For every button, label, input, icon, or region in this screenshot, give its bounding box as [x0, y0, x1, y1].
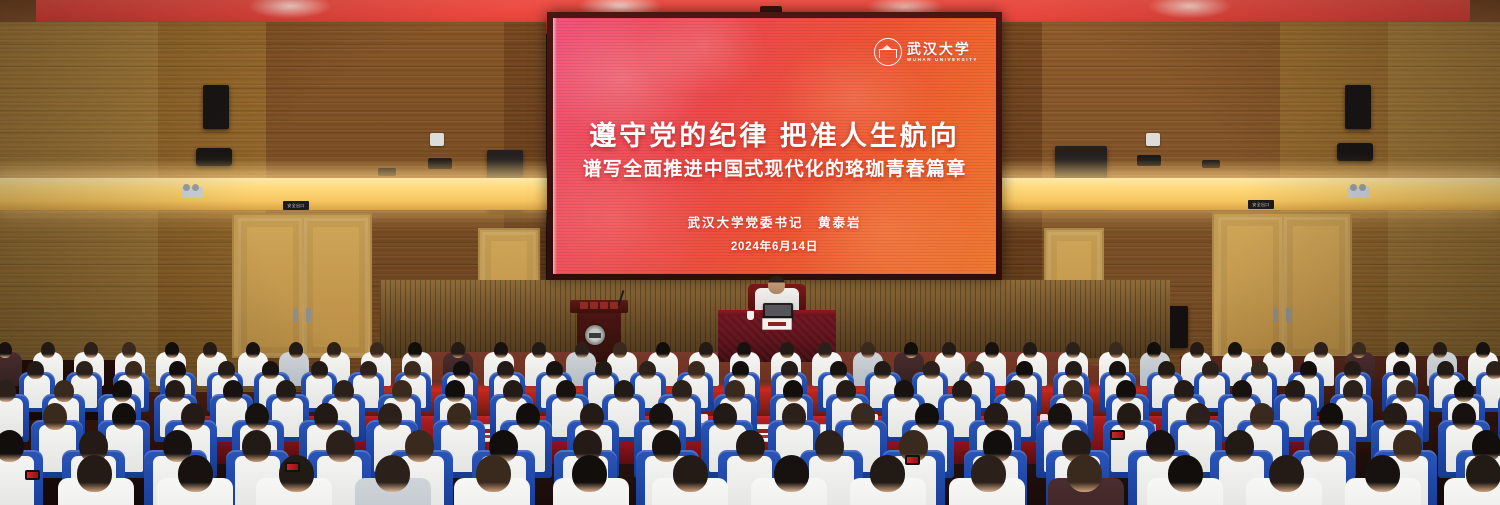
- audience-member-head: [774, 455, 809, 492]
- wuhan-university-seal-icon: [874, 38, 902, 66]
- audience-member-head: [43, 403, 67, 430]
- audience-member-head: [985, 342, 999, 358]
- audience-member-head: [246, 342, 260, 358]
- audience-member-head: [1005, 380, 1025, 402]
- audience-member-head: [737, 342, 751, 358]
- audience-member-head: [76, 361, 93, 379]
- audience-member-head: [1065, 361, 1082, 379]
- audience-member-head: [782, 403, 806, 430]
- speaker-head: [768, 276, 785, 294]
- audience-member-head: [613, 342, 627, 358]
- audience-member-head: [649, 403, 673, 430]
- audience-member-head: [967, 361, 984, 379]
- audience-member-head: [614, 380, 634, 402]
- audience-member-head: [1352, 342, 1366, 358]
- audience-member-head: [279, 455, 314, 492]
- audience-member-head: [476, 455, 511, 492]
- audience-member-head: [1285, 380, 1305, 402]
- audience-member-head: [326, 430, 355, 462]
- audience-member-head: [453, 361, 470, 379]
- audience-member-head: [1271, 342, 1285, 358]
- university-logo-text: 武汉大学 WUHAN UNIVERSITY: [907, 42, 978, 63]
- audience-member-head: [203, 342, 217, 358]
- audience-member-head: [370, 342, 384, 358]
- audience-member-head: [112, 403, 136, 430]
- audience-member-head: [314, 403, 338, 430]
- door-left-leaf-a[interactable]: [238, 218, 302, 356]
- wall-speaker-icon: [1337, 143, 1373, 161]
- wall-control-plate-icon: [1146, 133, 1160, 146]
- audience-member-head: [1147, 342, 1161, 358]
- audience-member-head: [1251, 361, 1268, 379]
- audience-member-head: [125, 361, 142, 379]
- audience-member-head: [516, 403, 540, 430]
- audience-member-head: [904, 342, 918, 358]
- university-logo: 武汉大学 WUHAN UNIVERSITY: [874, 38, 978, 66]
- audience-member-head: [405, 430, 434, 462]
- audience-member-head: [122, 342, 136, 358]
- audience-member-head: [736, 430, 765, 462]
- audience-member-head: [1063, 380, 1083, 402]
- audience-member-head: [1109, 361, 1126, 379]
- audience-member-head: [1067, 455, 1102, 492]
- audience-member-head: [861, 342, 875, 358]
- audience-member-head: [245, 403, 269, 430]
- audience-member-head: [894, 380, 914, 402]
- audience-member-head: [851, 403, 875, 430]
- audience-member-head: [1343, 380, 1363, 402]
- audience-member-head: [0, 430, 24, 462]
- speaker-nameplate: [762, 318, 792, 330]
- audience-member-head: [1454, 380, 1474, 402]
- audience-member-head: [494, 342, 508, 358]
- slide-title: 遵守党的纪律 把准人生航向: [553, 114, 996, 153]
- audience-member-head: [532, 342, 546, 358]
- audience-member-head: [1023, 342, 1037, 358]
- audience-member-head: [289, 342, 303, 358]
- audience-member-head: [1309, 430, 1338, 462]
- audience-member-head: [725, 380, 745, 402]
- audience-member-head: [178, 455, 213, 492]
- door-left-leaf-b[interactable]: [304, 218, 368, 356]
- audience-member-head: [1066, 342, 1080, 358]
- slide-speaker-line: 武汉大学党委书记 黄泰岩: [553, 212, 996, 231]
- audience-member-head: [1202, 361, 1219, 379]
- emergency-light-icon: [1348, 187, 1370, 198]
- audience-member-head: [656, 342, 670, 358]
- university-name-en: WUHAN UNIVERSITY: [907, 58, 978, 63]
- audience-member-head: [1396, 380, 1416, 402]
- wall-speaker-icon: [1345, 85, 1371, 129]
- audience-member-head: [1109, 342, 1123, 358]
- audience-member-head: [1437, 361, 1454, 379]
- audience-member-head: [1174, 380, 1194, 402]
- audience-member-head: [780, 342, 794, 358]
- audience-member-head: [165, 342, 179, 358]
- audience-member-head: [1250, 403, 1274, 430]
- audience-member-head: [408, 342, 422, 358]
- audience-member-head: [874, 361, 891, 379]
- audience-member-head: [1486, 361, 1500, 379]
- audience-member-head: [652, 430, 681, 462]
- door-handle-icon[interactable]: [293, 308, 298, 322]
- audience-member-head: [830, 361, 847, 379]
- audience-member-head: [781, 361, 798, 379]
- led-screen-content: 武汉大学 WUHAN UNIVERSITY 遵守党的纪律 把准人生航向 谱写全面…: [553, 18, 996, 274]
- door-handle-icon[interactable]: [1273, 308, 1278, 322]
- audience-member-head: [672, 380, 692, 402]
- audience-member-head: [1116, 380, 1136, 402]
- podium-inscription: [580, 302, 618, 310]
- audience-member-head: [815, 430, 844, 462]
- led-screen[interactable]: 武汉大学 WUHAN UNIVERSITY 遵守党的纪律 把准人生航向 谱写全面…: [547, 12, 1002, 280]
- audience-member-head: [732, 361, 749, 379]
- audience-member-head: [451, 342, 465, 358]
- audience-member-head: [1269, 455, 1304, 492]
- audience-member-head: [503, 380, 523, 402]
- audience-member-head: [378, 403, 402, 430]
- audience-member-head: [112, 380, 132, 402]
- audience-member-head: [497, 361, 514, 379]
- exit-sign: 安全出口: [1248, 200, 1274, 209]
- audience-member-head: [783, 380, 803, 402]
- audience-member-head: [1158, 361, 1175, 379]
- door-handle-icon[interactable]: [1286, 308, 1291, 322]
- audience-member-head: [870, 455, 905, 492]
- emergency-light-icon: [181, 187, 203, 198]
- audience-member-head: [169, 361, 186, 379]
- wall-speaker-icon: [203, 85, 229, 129]
- audience-member-head: [575, 342, 589, 358]
- audience-member-head: [1146, 430, 1175, 462]
- audience-member-head: [546, 361, 563, 379]
- audience-member-head: [1393, 430, 1422, 462]
- slide-subtitle: 谱写全面推进中国式现代化的珞珈青春篇章: [553, 154, 996, 181]
- audience-member-head: [27, 361, 44, 379]
- smartphone-icon: [25, 470, 40, 480]
- slide-date: 2024年6月14日: [553, 238, 996, 254]
- audience-member-head: [1383, 403, 1407, 430]
- audience-member-head: [334, 380, 354, 402]
- audience-member-head: [1186, 403, 1210, 430]
- audience-member-head: [1117, 403, 1141, 430]
- door-handle-icon[interactable]: [306, 308, 311, 322]
- audience-member-head: [276, 380, 296, 402]
- audience-member-head: [1016, 361, 1033, 379]
- audience-member-head: [360, 361, 377, 379]
- audience-member-head: [218, 361, 235, 379]
- audience-member-head: [1395, 342, 1409, 358]
- audience-member-head: [1190, 342, 1204, 358]
- door-right-leaf-a[interactable]: [1218, 217, 1282, 358]
- audience-member-head: [1344, 361, 1361, 379]
- audience-member-head: [165, 380, 185, 402]
- audience-member-head: [41, 342, 55, 358]
- audience-member-head: [0, 380, 16, 402]
- audience-member-head: [942, 342, 956, 358]
- audience-member-head: [556, 380, 576, 402]
- wall-control-plate-icon: [430, 133, 444, 146]
- audience-member-head: [54, 380, 74, 402]
- audience-member-head: [673, 455, 708, 492]
- audience-member-head: [404, 361, 421, 379]
- audience-member-head: [311, 361, 328, 379]
- audience-member-head: [923, 361, 940, 379]
- audience-member-head: [1168, 455, 1203, 492]
- university-name-cn: 武汉大学: [907, 42, 978, 56]
- audience-member-head: [580, 403, 604, 430]
- audience-member-head: [688, 361, 705, 379]
- audience-member-head: [392, 380, 412, 402]
- audience-member-head: [84, 342, 98, 358]
- exit-sign: 安全出口: [283, 201, 309, 210]
- audience-member-head: [952, 380, 972, 402]
- audience-member-head: [1433, 342, 1447, 358]
- audience-member-head: [971, 455, 1006, 492]
- audience-member-head: [375, 455, 410, 492]
- wall-light-band-left: [0, 178, 548, 210]
- smartphone-icon: [1110, 430, 1125, 440]
- audience-member-head: [1476, 342, 1490, 358]
- audience-member-head: [1466, 455, 1500, 492]
- audience-member-head: [445, 380, 465, 402]
- audience-member-head: [262, 361, 279, 379]
- audience-member-head: [242, 430, 271, 462]
- audience-member-head: [447, 403, 471, 430]
- audience-member-head: [595, 361, 612, 379]
- audience-member-head: [1365, 455, 1400, 492]
- wall-light-glow-left: [0, 160, 548, 180]
- audience-member-head: [984, 403, 1008, 430]
- audience-member-head: [836, 380, 856, 402]
- audience-member-head: [818, 342, 832, 358]
- audience-member-head: [915, 403, 939, 430]
- audience-member-head: [1319, 403, 1343, 430]
- audience-member-head: [1314, 342, 1328, 358]
- podium-university-seal-icon: [585, 325, 605, 345]
- audience-member-head: [699, 342, 713, 358]
- auditorium-photo: 安全出口 安全出口 武汉大学 WUHAN UNIVERSITY: [0, 0, 1500, 505]
- smartphone-icon: [905, 455, 920, 465]
- wall-light-glow-right: [1000, 160, 1500, 180]
- audience-member-head: [639, 361, 656, 379]
- audience-member-head: [1393, 361, 1410, 379]
- audience-member-head: [1232, 380, 1252, 402]
- audience-member-head: [1452, 403, 1476, 430]
- audience-member-head: [181, 403, 205, 430]
- audience-member-head: [1300, 361, 1317, 379]
- audience-member-head: [327, 342, 341, 358]
- audience-member-head: [0, 342, 12, 358]
- audience-member-head: [713, 403, 737, 430]
- door-right-leaf-b[interactable]: [1284, 217, 1348, 358]
- cup-icon: [747, 311, 754, 320]
- audience-member-head: [572, 455, 607, 492]
- audience-member-head: [1225, 430, 1254, 462]
- audience-member-head: [77, 455, 112, 492]
- ceiling-wood-right: [1470, 0, 1500, 22]
- audience-member-head: [1048, 403, 1072, 430]
- audience-member-head: [223, 380, 243, 402]
- audience-member-head: [1228, 342, 1242, 358]
- smartphone-icon: [285, 462, 300, 472]
